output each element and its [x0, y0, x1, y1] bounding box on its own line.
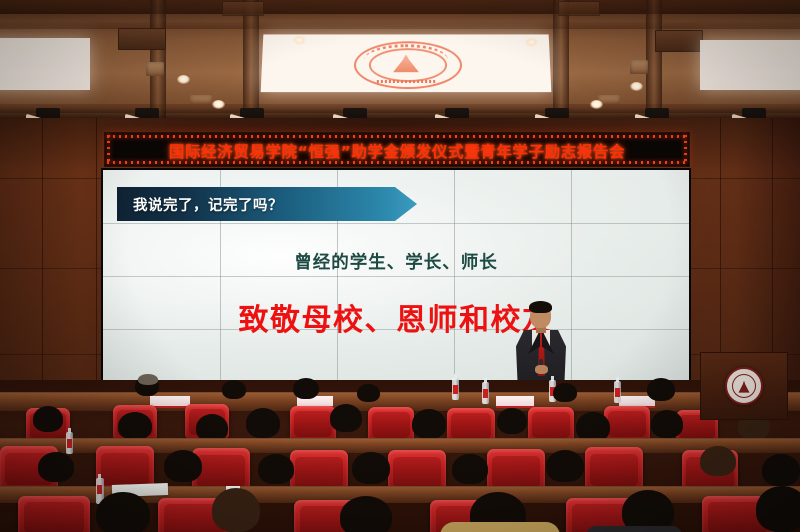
audience-head: [546, 450, 584, 482]
audience-head: [340, 496, 392, 532]
audience-area: [0, 380, 800, 532]
downlight-icon: [630, 82, 643, 91]
slide-header-text: 我说完了，记完了吗？: [117, 194, 283, 215]
ceiling-light-panel-right: [700, 40, 800, 90]
audience-head: [222, 380, 246, 399]
university-seal-icon: [725, 367, 763, 405]
audience-head: [647, 378, 675, 401]
ceiling-coffer: [146, 62, 164, 76]
slide-main-text: 致敬母校、恩师和校友: [103, 295, 689, 339]
slide-header-banner: 我说完了，记完了吗？: [117, 187, 417, 221]
ceiling-vent: [118, 28, 166, 50]
audience-head: [246, 408, 280, 438]
screen-tile-seam: [103, 223, 689, 224]
ceiling-vent: [222, 1, 264, 16]
university-crest-icon: [354, 41, 459, 85]
downlight-icon: [293, 36, 306, 45]
audience-head: [33, 406, 63, 432]
audience-head: [138, 374, 158, 385]
ceiling-coffer: [190, 95, 212, 104]
audience-head: [38, 452, 74, 482]
water-bottle: [452, 378, 459, 400]
ceiling-vent: [558, 1, 600, 16]
audience-head: [762, 454, 800, 486]
water-bottle: [614, 381, 621, 403]
podium-panel: [700, 352, 788, 420]
auditorium-seat: [528, 407, 574, 441]
water-bottle: [66, 432, 73, 454]
speaker-hands: [535, 365, 548, 374]
auditorium-seat: [96, 446, 154, 488]
auditorium-seat: [585, 447, 643, 489]
audience-shoulders: [586, 526, 682, 532]
audience-head: [756, 486, 800, 532]
auditorium-seat: [447, 408, 495, 442]
slide-subtitle-text: 曾经的学生、学长、师长: [103, 249, 689, 274]
downlight-icon: [177, 75, 190, 84]
audience-head: [357, 384, 380, 402]
ceiling-beam-top: [0, 0, 800, 14]
auditorium-photo: 国际经济贸易学院“恒强”助学金颁发仪式暨青年学子励志报告会 我说完了，记完了吗？…: [0, 0, 800, 532]
speaker-hair: [529, 301, 552, 313]
auditorium-seat: [487, 449, 545, 491]
led-banner: 国际经济贸易学院“恒强”助学金颁发仪式暨青年学子励志报告会: [104, 132, 690, 167]
audience-head: [96, 492, 150, 532]
audience-head: [651, 410, 683, 438]
audience-head: [293, 378, 319, 399]
audience-shoulders: [440, 522, 560, 532]
auditorium-seat: [368, 407, 414, 441]
ceiling-light-panel-left: [0, 38, 90, 90]
auditorium-seat: [18, 496, 90, 532]
audience-head: [497, 408, 527, 434]
presentation-screen: 我说完了，记完了吗？ 曾经的学生、学长、师长 致敬母校、恩师和校友: [101, 168, 691, 385]
ceiling-coffer: [630, 60, 648, 74]
audience-head: [164, 450, 202, 482]
audience-head: [352, 452, 390, 484]
name-placard: [496, 396, 534, 408]
auditorium-seat: [290, 406, 336, 440]
audience-head: [330, 404, 362, 432]
led-border-top: [107, 135, 687, 138]
name-placard: [150, 396, 190, 408]
screen-tile-seam: [103, 276, 689, 277]
audience-head: [258, 454, 294, 484]
audience-head: [212, 488, 260, 532]
audience-head: [553, 383, 577, 402]
auditorium-seat: [604, 406, 650, 440]
led-banner-text: 国际经济贸易学院“恒强”助学金颁发仪式暨青年学子励志报告会: [105, 140, 689, 162]
audience-head: [412, 409, 446, 439]
ceiling-vent: [655, 30, 703, 52]
audience-head: [452, 454, 488, 484]
water-bottle: [482, 382, 489, 404]
downlight-icon: [525, 38, 538, 47]
audience-head: [118, 412, 152, 440]
audience-head: [700, 446, 736, 476]
